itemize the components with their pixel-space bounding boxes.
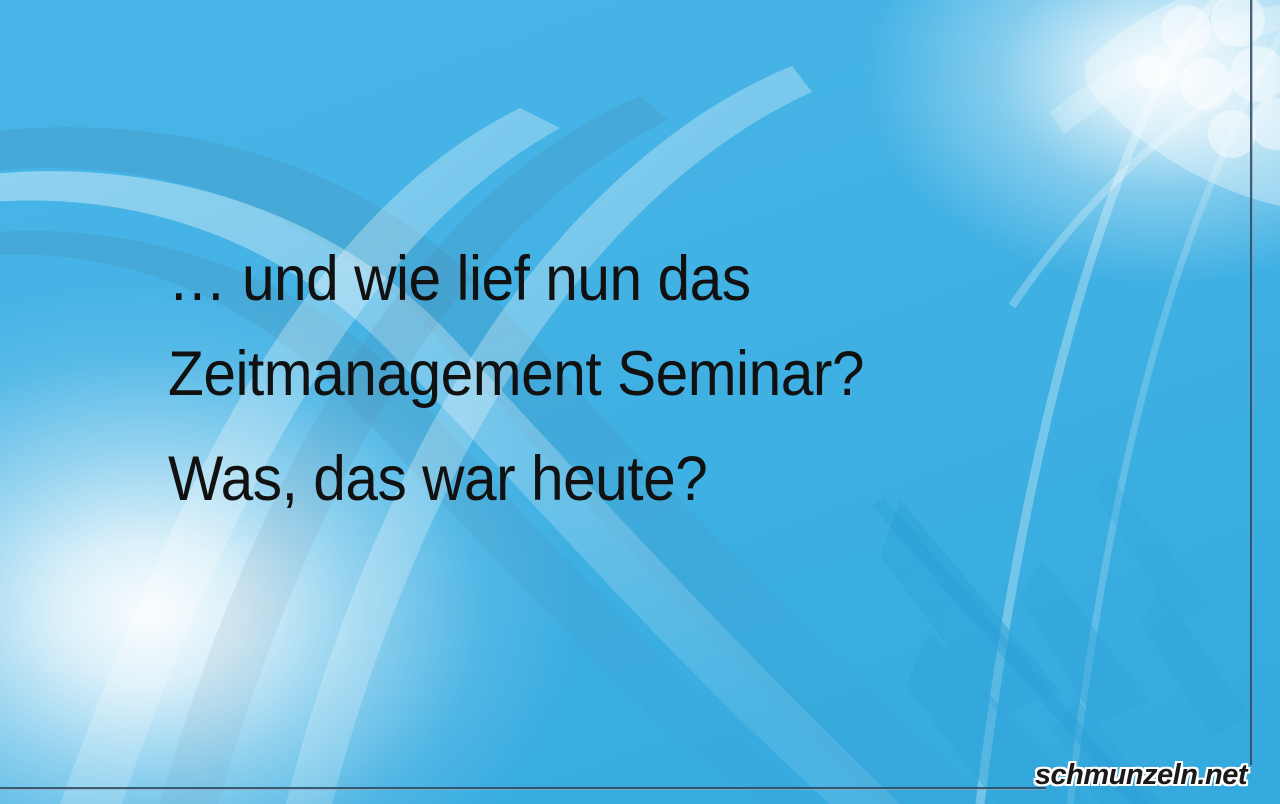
bottom-rule — [0, 787, 1046, 790]
bubble-cluster-group — [1050, 0, 1280, 210]
caption-block: … und wie lief nun das Zeitmanagement Se… — [168, 232, 1068, 527]
slide-canvas: … und wie lief nun das Zeitmanagement Se… — [0, 0, 1280, 804]
watermark-schmunzeln-net: schmunzeln.net — [1035, 759, 1247, 792]
caption-line-3: Was, das war heute? — [168, 432, 1005, 527]
caption-line-1: … und wie lief nun das — [168, 232, 1005, 327]
right-rule — [1250, 0, 1253, 765]
caption-line-2: Zeitmanagement Seminar? — [168, 327, 1005, 422]
